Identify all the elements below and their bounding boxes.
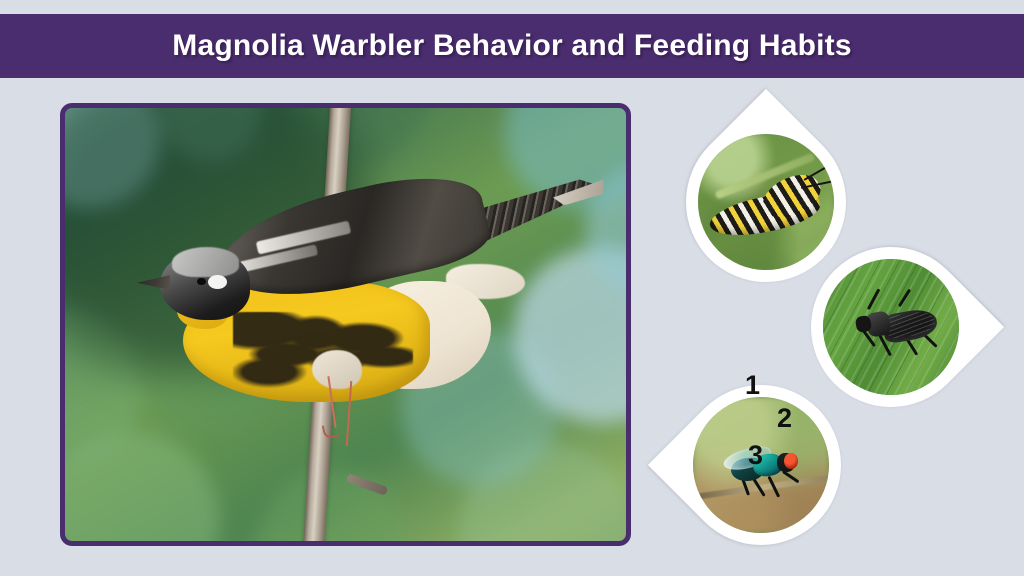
warbler-eye-patch	[208, 275, 227, 289]
title-bar: Magnolia Warbler Behavior and Feeding Ha…	[0, 14, 1024, 78]
warbler-eye	[197, 278, 205, 285]
prey-pin-number-1: 1	[745, 372, 760, 399]
warbler-illustration	[65, 108, 626, 541]
fly-eye	[784, 453, 798, 469]
caterpillar-image	[698, 134, 834, 270]
beetle-image	[823, 259, 959, 395]
page-title: Magnolia Warbler Behavior and Feeding Ha…	[172, 29, 851, 63]
magnolia-warbler-photo	[65, 108, 626, 541]
warbler-beak	[137, 275, 171, 290]
warbler-crown	[172, 247, 239, 277]
prey-pin-number-2: 2	[777, 405, 792, 432]
main-photo-frame	[60, 103, 631, 546]
prey-pin-cluster: 1 2 3	[645, 95, 1024, 576]
warbler-foot	[322, 423, 341, 440]
prey-pin-number-3: 3	[748, 442, 763, 469]
